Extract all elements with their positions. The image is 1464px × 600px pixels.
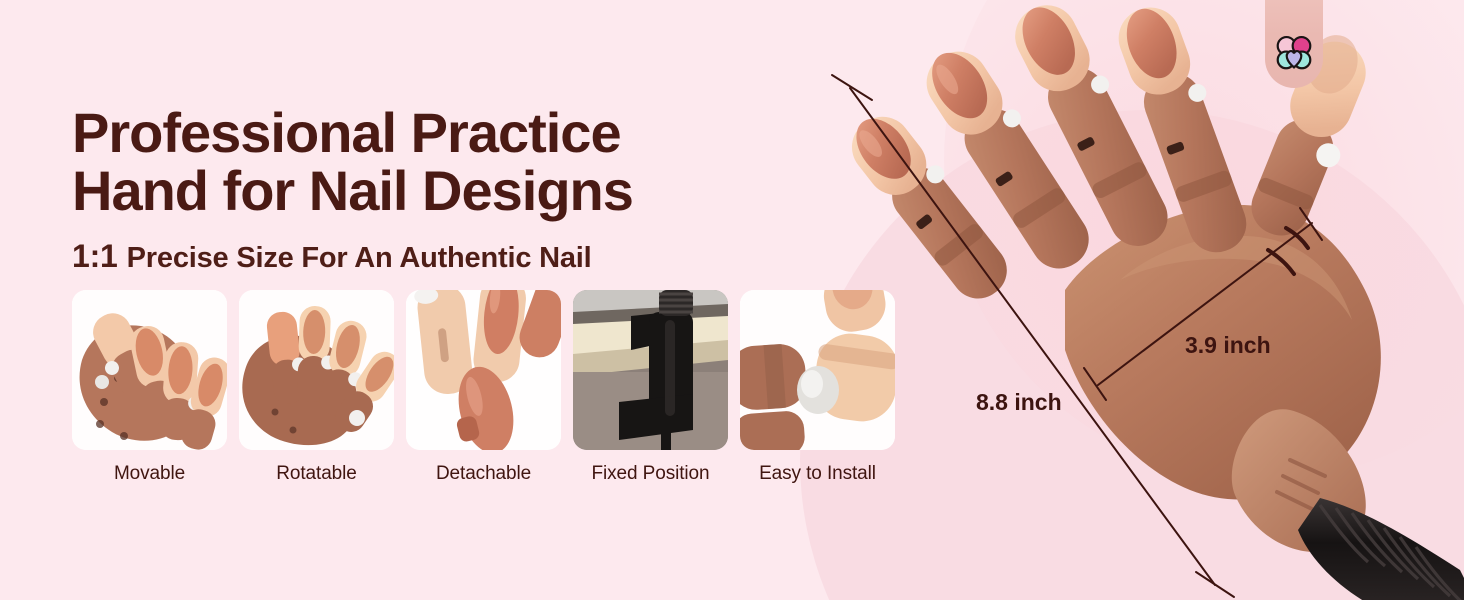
feature-thumbnail-fixed-position bbox=[573, 290, 728, 450]
rotating-fingers-icon bbox=[239, 290, 394, 450]
text-column: Professional Practice Hand for Nail Desi… bbox=[72, 104, 932, 275]
feature-thumbnail-detachable bbox=[406, 290, 561, 450]
feature-item: Easy to Install bbox=[740, 290, 895, 485]
subtitle: 1:1 Precise Size For An Authentic Nail bbox=[72, 238, 932, 275]
table-clamp-icon bbox=[573, 290, 728, 450]
hand-palm bbox=[1065, 205, 1381, 552]
ratio-emphasis: 1:1 bbox=[72, 238, 118, 275]
page-title: Professional Practice Hand for Nail Desi… bbox=[72, 104, 932, 220]
flexible-cable bbox=[1298, 498, 1464, 600]
feature-item: Rotatable bbox=[239, 290, 394, 485]
detachable-nail-tips-icon bbox=[406, 290, 561, 450]
snap-on-finger-joint-icon bbox=[740, 290, 895, 450]
feature-item: Movable bbox=[72, 290, 227, 485]
subtitle-text: Precise Size For An Authentic Nail bbox=[127, 242, 592, 275]
feature-label: Easy to Install bbox=[740, 463, 895, 485]
practice-hand-image bbox=[820, 0, 1464, 600]
articulated-hand-joints-icon bbox=[72, 290, 227, 450]
flower-logo-icon bbox=[1272, 30, 1316, 74]
practice-hand-illustration bbox=[820, 0, 1464, 600]
feature-label: Rotatable bbox=[239, 463, 394, 485]
width-dimension-label: 3.9 inch bbox=[1185, 332, 1271, 359]
feature-item: Fixed Position bbox=[573, 290, 728, 485]
feature-strip: Movable bbox=[72, 290, 895, 485]
feature-thumbnail-movable bbox=[72, 290, 227, 450]
brand-logo-tab bbox=[1265, 0, 1323, 88]
feature-label: Fixed Position bbox=[573, 463, 728, 485]
feature-label: Detachable bbox=[406, 463, 561, 485]
feature-label: Movable bbox=[72, 463, 227, 485]
feature-item: Detachable bbox=[406, 290, 561, 485]
feature-thumbnail-easy-install bbox=[740, 290, 895, 450]
length-dimension-label: 8.8 inch bbox=[976, 389, 1062, 416]
feature-thumbnail-rotatable bbox=[239, 290, 394, 450]
product-banner: 8.8 inch 3.9 inch Professional Practice … bbox=[0, 0, 1464, 600]
